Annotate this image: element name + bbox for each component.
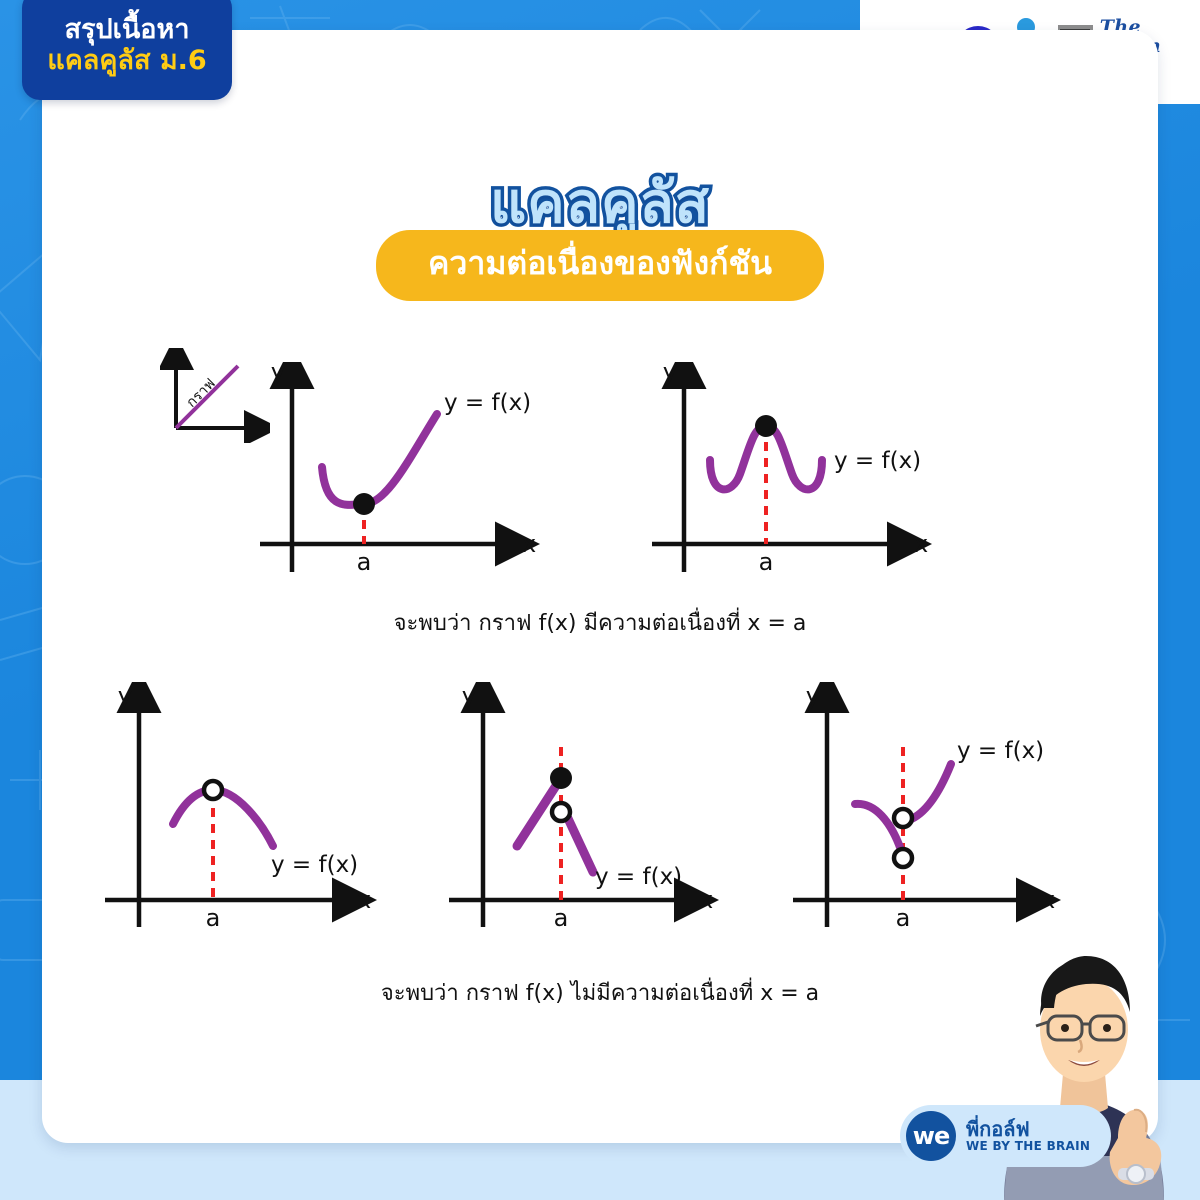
topic-badge-line1: สรุปเนื้อหา xyxy=(65,14,190,45)
discontinuous-graph-row: y x a y = f(x) y x xyxy=(42,682,1158,932)
chart-jump-discontinuity-filled: y x a y = f(x) xyxy=(435,682,765,932)
point-a-label: a xyxy=(896,904,911,932)
curve-label: y = f(x) xyxy=(595,864,682,890)
y-axis-label: y xyxy=(806,682,820,710)
point-a-label: a xyxy=(554,904,569,932)
chart-jump-discontinuity-hollow: y x a y = f(x) xyxy=(781,682,1111,932)
x-axis-label: x xyxy=(699,886,713,914)
page-subtitle-wrap: ความต่อเนื่องของฟังก์ชัน xyxy=(42,230,1158,301)
x-axis-label: x xyxy=(914,530,928,558)
page-subtitle: ความต่อเนื่องของฟังก์ชัน xyxy=(376,230,824,301)
chart-continuous-parabola: y x a y = f(x) xyxy=(252,362,552,577)
poster-stage: w e The Brain เดอะเบรน แคลคูลัส ความต่อเ… xyxy=(0,0,1200,1200)
point-a-label: a xyxy=(759,548,774,576)
point-a-label: a xyxy=(206,904,221,932)
point-a-label: a xyxy=(357,548,372,576)
caption-continuous: จะพบว่า กราฟ f(x) มีความต่อเนื่องที่ x =… xyxy=(42,605,1158,640)
y-axis-label: y xyxy=(663,362,677,386)
curve-label: y = f(x) xyxy=(834,448,921,474)
teacher-name-badge: we พี่กอล์ฟ WE BY THE BRAIN xyxy=(900,1105,1111,1167)
x-axis-label: x xyxy=(1041,886,1055,914)
x-axis-label: x xyxy=(522,530,536,558)
curve-label: y = f(x) xyxy=(271,852,358,878)
x-axis-label: x xyxy=(357,886,371,914)
topic-badge-line2: แคลคูลัส ม.6 xyxy=(47,45,206,76)
y-axis-label: y xyxy=(462,682,476,710)
curve-label: y = f(x) xyxy=(444,390,531,416)
chart-continuous-wave: y x a y = f(x) xyxy=(648,362,948,577)
teacher-name: พี่กอล์ฟ xyxy=(966,1118,1090,1140)
brand-name: WE BY THE BRAIN xyxy=(966,1140,1090,1153)
topic-badge: สรุปเนื้อหา แคลคูลัส ม.6 xyxy=(22,0,232,100)
y-axis-label: y xyxy=(271,362,285,386)
y-axis-label: y xyxy=(118,682,132,710)
curve-label: y = f(x) xyxy=(957,738,1044,764)
chart-removable-discontinuity: y x a y = f(x) xyxy=(89,682,419,932)
continuous-graph-row: y x a y = f(x) y x xyxy=(42,362,1158,577)
we-circle-logo: we xyxy=(906,1111,956,1161)
